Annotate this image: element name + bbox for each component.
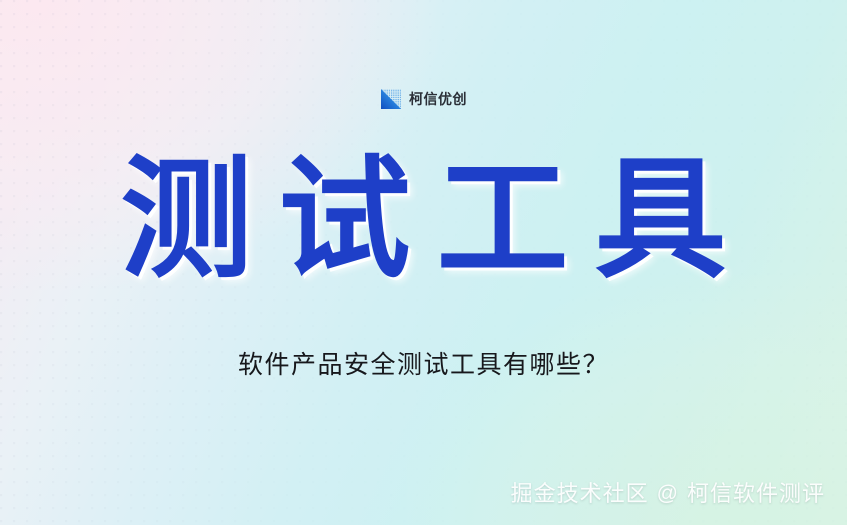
page-title: 测试工具 (0, 140, 847, 300)
brand-name: 柯信优创 (409, 92, 467, 106)
brand-lockup: 柯信优创 (0, 88, 847, 110)
watermark: 掘金技术社区 @ 柯信软件测评 (511, 479, 825, 509)
page-subtitle: 软件产品安全测试工具有哪些？ (0, 348, 847, 382)
green-glow-decoration (407, 275, 847, 525)
watermark-at-symbol: @ (657, 479, 679, 509)
poster-canvas: 柯信优创 测试工具 软件产品安全测试工具有哪些？ 掘金技术社区 @ 柯信软件测评 (0, 0, 847, 525)
watermark-community: 掘金技术社区 (511, 479, 649, 509)
gradient-triangle-logo-icon (380, 88, 402, 110)
watermark-account: 柯信软件测评 (687, 479, 825, 509)
